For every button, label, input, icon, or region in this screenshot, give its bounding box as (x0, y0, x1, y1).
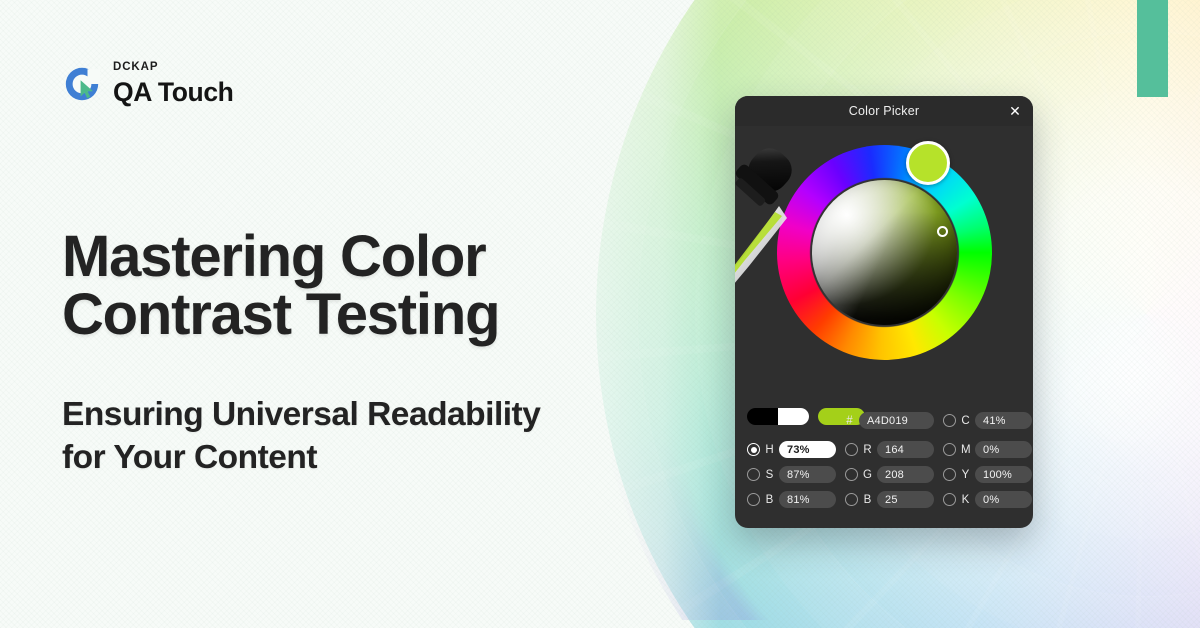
radio-brightness[interactable] (747, 493, 760, 506)
cmyk-cell-c[interactable]: C 41% (943, 412, 1032, 429)
label-k: K (961, 494, 970, 506)
color-picker-titlebar: Color Picker ✕ (735, 96, 1033, 126)
label-g: G (863, 469, 872, 481)
input-blue[interactable]: 25 (877, 491, 934, 508)
field-row-1: # A4D019 C 41% (747, 408, 1021, 433)
radio-s[interactable] (747, 468, 760, 481)
label-blue: B (863, 494, 872, 506)
brand-logo[interactable]: DCKAP QA Touch (64, 62, 233, 105)
radio-y[interactable] (943, 468, 956, 481)
rgb-cell-b[interactable]: B 25 (845, 491, 934, 508)
radio-g[interactable] (845, 468, 858, 481)
accent-rectangle (1137, 0, 1168, 97)
label-r: R (863, 444, 872, 456)
hash-icon: # (845, 415, 854, 427)
radio-h[interactable] (747, 443, 760, 456)
black-white-swatch[interactable] (747, 408, 809, 425)
page-subtitle-line-2: for Your Content (62, 437, 682, 480)
brand-eyebrow: DCKAP (113, 62, 233, 74)
label-brightness: B (765, 494, 774, 506)
input-c[interactable]: 41% (975, 412, 1032, 429)
field-row-4: B 81% B 25 K 0% (747, 491, 1021, 508)
input-h[interactable]: 73% (779, 441, 836, 458)
color-wheel-area[interactable] (735, 126, 1033, 406)
hex-input[interactable]: A4D019 (859, 412, 934, 429)
hero-banner: DCKAP QA Touch Mastering Color Contrast … (0, 0, 1200, 628)
cmyk-cell-y[interactable]: Y 100% (943, 466, 1032, 483)
color-picker-title: Color Picker (849, 104, 919, 118)
input-s[interactable]: 87% (779, 466, 836, 483)
hex-cell[interactable]: # A4D019 (845, 412, 934, 429)
input-y[interactable]: 100% (975, 466, 1032, 483)
label-m: M (961, 444, 970, 456)
hue-ring-handle[interactable] (906, 141, 950, 185)
input-brightness[interactable]: 81% (779, 491, 836, 508)
hsb-cell-b[interactable]: B 81% (747, 491, 836, 508)
label-h: H (765, 444, 774, 456)
qatouch-cursor-logo-icon (64, 66, 100, 102)
cmyk-cell-m[interactable]: M 0% (943, 441, 1032, 458)
cmyk-cell-k[interactable]: K 0% (943, 491, 1032, 508)
color-picker-fields[interactable]: # A4D019 C 41% H 73% R (735, 408, 1033, 516)
radio-r[interactable] (845, 443, 858, 456)
page-title: Mastering Color Contrast Testing (62, 228, 702, 344)
radio-m[interactable] (943, 443, 956, 456)
hsb-cell-s[interactable]: S 87% (747, 466, 836, 483)
label-s: S (765, 469, 774, 481)
saturation-brightness-handle[interactable] (937, 226, 948, 237)
brand-name: QA Touch (113, 79, 233, 106)
label-y: Y (961, 469, 970, 481)
rgb-cell-r[interactable]: R 164 (845, 441, 934, 458)
label-c: C (961, 415, 970, 427)
saturation-brightness-shading (812, 180, 957, 325)
input-g[interactable]: 208 (877, 466, 934, 483)
input-k[interactable]: 0% (975, 491, 1032, 508)
field-row-3: S 87% G 208 Y 100% (747, 466, 1021, 483)
radio-blue[interactable] (845, 493, 858, 506)
swatch-cell[interactable] (747, 408, 836, 433)
close-icon[interactable]: ✕ (1009, 104, 1021, 118)
page-subtitle-line-1: Ensuring Universal Readability (62, 394, 682, 437)
radio-c[interactable] (943, 414, 956, 427)
hsb-cell-h[interactable]: H 73% (747, 441, 836, 458)
page-title-line-1: Mastering Color (62, 228, 702, 286)
page-subtitle: Ensuring Universal Readability for Your … (62, 394, 682, 480)
input-r[interactable]: 164 (877, 441, 934, 458)
rgb-cell-g[interactable]: G 208 (845, 466, 934, 483)
page-title-line-2: Contrast Testing (62, 286, 702, 344)
field-row-2: H 73% R 164 M 0% (747, 441, 1021, 458)
input-m[interactable]: 0% (975, 441, 1032, 458)
radio-k[interactable] (943, 493, 956, 506)
color-picker-panel[interactable]: Color Picker ✕ (735, 96, 1033, 528)
brand-logo-text: DCKAP QA Touch (113, 62, 233, 105)
